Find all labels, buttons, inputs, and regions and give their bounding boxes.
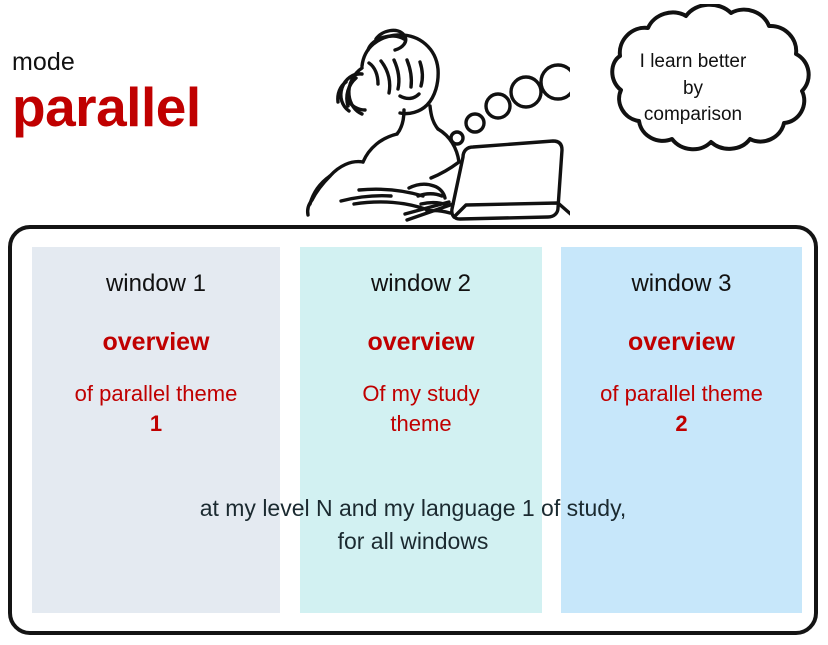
window-3-desc-line: of parallel theme — [567, 379, 796, 409]
window-panel-1-content: window 1 overview of parallel theme 1 — [32, 271, 280, 438]
window-2-desc-number: theme — [306, 409, 536, 439]
thought-cloud-icon: I learn better by comparison — [560, 4, 826, 180]
window-2-description: Of my study theme — [306, 379, 536, 438]
slide-canvas: mode parallel — [0, 0, 828, 645]
window-1-overview-heading: overview — [38, 329, 274, 357]
thought-line-1: I learn better — [640, 49, 747, 76]
window-2-desc-line: Of my study — [306, 379, 536, 409]
window-2-overview-heading: overview — [306, 329, 536, 357]
window-3-label: window 3 — [567, 271, 796, 297]
window-panel-2[interactable]: window 2 overview Of my study theme — [300, 247, 542, 613]
windows-frame: window 1 overview of parallel theme 1 wi… — [8, 225, 818, 635]
window-2-label: window 2 — [306, 271, 536, 297]
window-1-description: of parallel theme 1 — [38, 379, 274, 438]
thought-line-2: by — [683, 76, 703, 103]
window-1-label: window 1 — [38, 271, 274, 297]
mode-kicker-label: mode — [12, 48, 75, 77]
window-3-overview-heading: overview — [567, 329, 796, 357]
window-3-description: of parallel theme 2 — [567, 379, 796, 438]
window-panel-2-content: window 2 overview Of my study theme — [300, 271, 542, 438]
window-panel-1[interactable]: window 1 overview of parallel theme 1 — [32, 247, 280, 613]
thought-bubble-text: I learn better by comparison — [560, 4, 826, 180]
person-studying-at-laptop-icon — [258, 6, 570, 222]
window-1-desc-line: of parallel theme — [38, 379, 274, 409]
windows-row: window 1 overview of parallel theme 1 wi… — [32, 247, 794, 613]
thought-line-3: comparison — [644, 102, 742, 129]
window-1-desc-number: 1 — [38, 409, 274, 439]
window-panel-3-content: window 3 overview of parallel theme 2 — [561, 271, 802, 438]
page-title: parallel — [12, 80, 201, 135]
window-panel-3[interactable]: window 3 overview of parallel theme 2 — [561, 247, 802, 613]
window-3-desc-number: 2 — [567, 409, 796, 439]
